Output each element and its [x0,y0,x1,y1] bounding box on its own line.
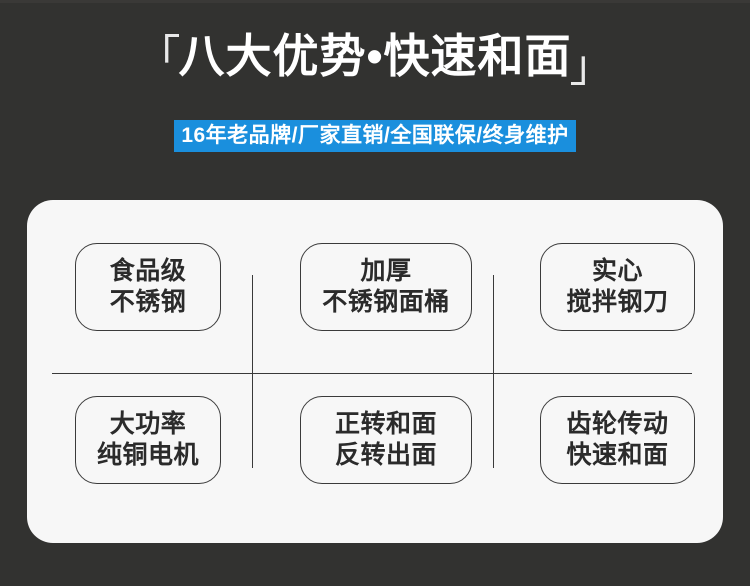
vertical-divider-2 [493,275,494,468]
subtitle-banner-wrap: 16年老品牌/厂家直销/全国联保/终身维护 [0,120,750,152]
subtitle-banner: 16年老品牌/厂家直销/全国联保/终身维护 [174,120,575,152]
features-panel: 食品级 不锈钢 加厚 不锈钢面桶 实心 搅拌钢刀 大功率 纯铜电机 正转和面 反… [27,200,723,543]
feature-card-4-line2: 纯铜电机 [97,440,199,471]
vertical-divider-1 [252,275,253,468]
feature-card-2-line1: 加厚 [360,256,411,287]
feature-card-1-line1: 食品级 [110,256,187,287]
close-bracket-icon: 」 [570,45,614,89]
feature-card-6-line1: 齿轮传动 [566,409,668,440]
feature-card-4: 大功率 纯铜电机 [75,396,221,484]
feature-card-1: 食品级 不锈钢 [75,243,221,331]
feature-card-2: 加厚 不锈钢面桶 [300,243,472,331]
page-title-text: 八大优势•快速和面 [178,33,571,79]
feature-card-3: 实心 搅拌钢刀 [540,243,695,331]
feature-card-6-line2: 快速和面 [566,440,668,471]
feature-card-5-line1: 正转和面 [335,409,437,440]
header-section: 「八大优势•快速和面」 16年老品牌/厂家直销/全国联保/终身维护 [0,0,750,190]
feature-card-3-line2: 搅拌钢刀 [566,287,668,318]
promo-banner-page: 「八大优势•快速和面」 16年老品牌/厂家直销/全国联保/终身维护 食品级 不锈… [0,0,750,586]
features-grid: 食品级 不锈钢 加厚 不锈钢面桶 实心 搅拌钢刀 大功率 纯铜电机 正转和面 反… [27,200,723,543]
feature-card-1-line2: 不锈钢 [110,287,187,318]
feature-card-6: 齿轮传动 快速和面 [540,396,695,484]
horizontal-divider [52,373,692,374]
feature-card-4-line1: 大功率 [110,409,187,440]
open-bracket-icon: 「 [136,35,180,79]
page-title: 「八大优势•快速和面」 [0,33,750,79]
feature-card-2-line2: 不锈钢面桶 [322,287,450,318]
feature-card-5-line2: 反转出面 [335,440,437,471]
feature-card-5: 正转和面 反转出面 [300,396,472,484]
feature-card-3-line1: 实心 [592,256,643,287]
